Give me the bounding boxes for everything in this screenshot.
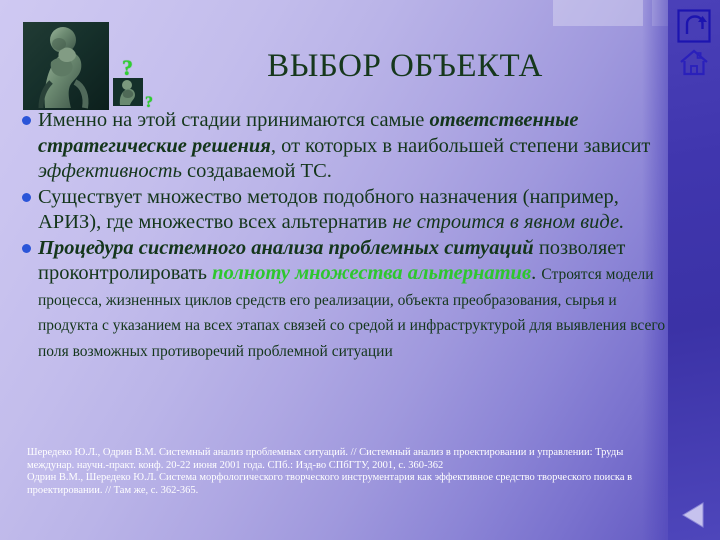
page-title: ВЫБОР ОБЪЕКТА [170, 48, 640, 85]
previous-triangle-icon[interactable] [676, 500, 712, 530]
slide-canvas: ? ? ВЫБОР ОБЪЕКТА Именно на этой стадии … [0, 0, 720, 540]
bullet-dot-icon-2 [22, 193, 31, 202]
footnote-references: Шередеко Ю.Л., Одрин В.М. Системный анал… [27, 447, 655, 497]
top-band-artifact-1 [553, 0, 643, 26]
bullet-1-run-1: Именно на этой стадии принимаются самые [38, 109, 430, 131]
bullet-3-run-1: Процедура системного анализа проблемных … [38, 237, 534, 259]
slide-body: Именно на этой стадии принимаются самые … [16, 108, 678, 363]
bullet-dot-icon-1 [22, 116, 31, 125]
thinker-statue-image-small [113, 78, 143, 106]
bullet-1-run-4: эффективность [38, 160, 182, 182]
bullet-3-run-3: полноту множества альтернатив [212, 262, 531, 284]
thinker-statue-image [23, 22, 109, 110]
footnote-line-2: Одрин В.М., Шередеко Ю.Л. Система морфол… [27, 472, 655, 497]
bullet-3-run-4: . [531, 262, 541, 284]
bullet-dot-icon-3 [22, 244, 31, 253]
bullet-item-2: Существует множество методов подобного н… [16, 185, 678, 236]
u-turn-back-icon[interactable] [677, 9, 711, 43]
question-mark-icon-1: ? [122, 57, 133, 79]
bullet-item-1: Именно на этой стадии принимаются самые … [16, 108, 678, 185]
bullet-1-run-5: создаваемой ТС. [182, 160, 332, 182]
bullet-1-run-3: , от которых в наибольшей степени зависи… [271, 135, 651, 157]
bullet-item-3: Процедура системного анализа проблемных … [16, 236, 678, 364]
bullet-2-run-2: не строится в явном виде. [392, 211, 624, 233]
footnote-line-1: Шередеко Ю.Л., Одрин В.М. Системный анал… [27, 447, 655, 472]
home-icon[interactable] [677, 45, 711, 79]
